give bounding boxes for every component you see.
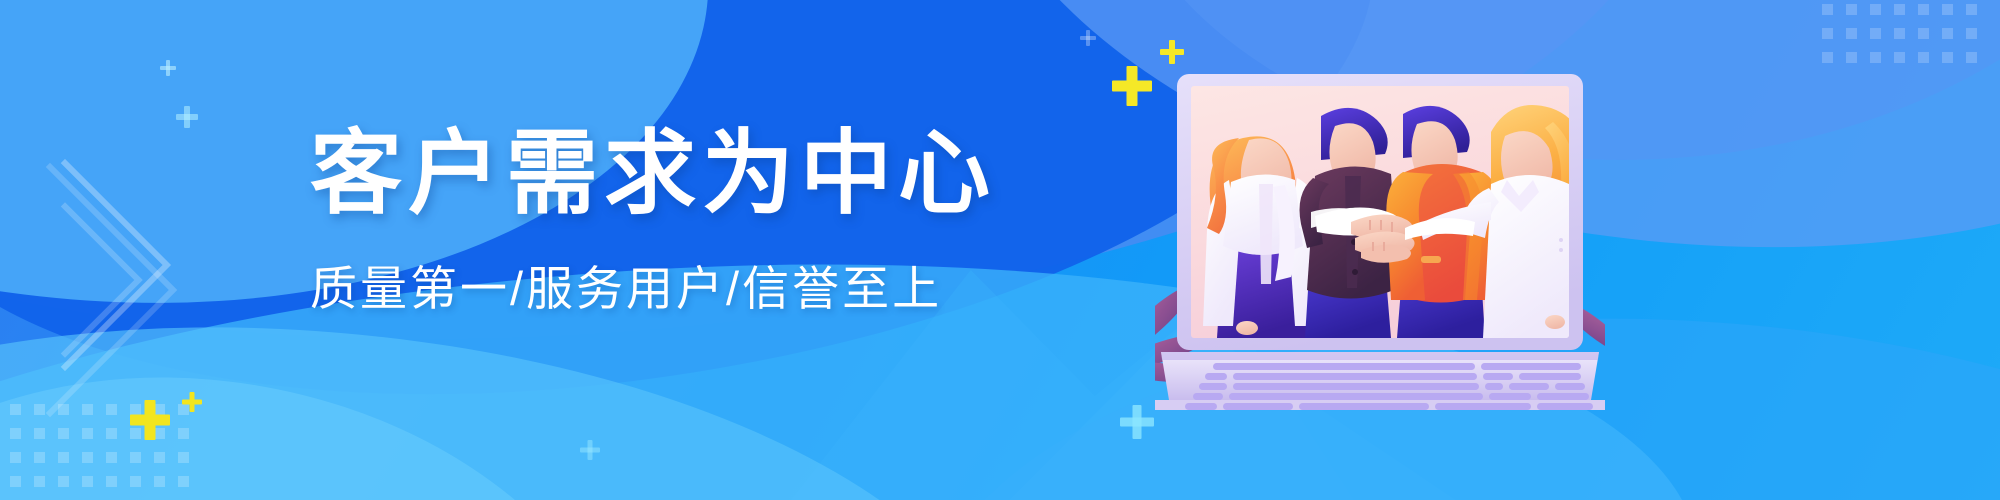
grid-dot [58, 476, 69, 487]
plus-icon-cyan-left-small [160, 60, 176, 76]
grid-dot [1966, 52, 1977, 63]
grid-dot [130, 476, 141, 487]
grid-dot [10, 476, 21, 487]
wave-shape-bottom-2 [0, 305, 1042, 500]
banner-subtitle: 质量第一/服务用户/信誉至上 [310, 250, 996, 319]
grid-dot [1870, 28, 1881, 39]
banner-text-block: 客户需求为中心 质量第一/服务用户/信誉至上 [310, 126, 996, 319]
banner-headline: 客户需求为中心 [310, 126, 996, 224]
grid-dot [10, 428, 21, 439]
grid-dot [82, 476, 93, 487]
grid-dot [58, 428, 69, 439]
grid-dot [1870, 4, 1881, 15]
laptop-svg [1155, 60, 1605, 430]
grid-dot [1846, 28, 1857, 39]
chevron-arrow-icon-mid [0, 159, 171, 371]
wave-shape-bottom-3 [0, 342, 679, 500]
grid-dot [10, 404, 21, 415]
grid-dot [154, 428, 165, 439]
grid-dot [82, 404, 93, 415]
grid-dot [58, 452, 69, 463]
grid-dot [106, 404, 117, 415]
plus-icon-yellow-bottomleft-small [182, 392, 202, 412]
grid-dot [10, 452, 21, 463]
grid-dot [1942, 28, 1953, 39]
grid-dot [178, 428, 189, 439]
promotional-banner: 客户需求为中心 质量第一/服务用户/信誉至上 [0, 0, 2000, 500]
chevron-arrow-icon-inner [0, 202, 143, 358]
plus-icon-yellow-bottomleft [130, 400, 170, 440]
grid-dot [1846, 4, 1857, 15]
grid-dot [106, 476, 117, 487]
grid-dot [34, 404, 45, 415]
laptop-hinge [1161, 352, 1599, 360]
grid-dot [1966, 28, 1977, 39]
plus-icon-cyan-right [1120, 405, 1154, 439]
laptop-teamwork-illustration [1155, 60, 1605, 430]
grid-dot [130, 404, 141, 415]
grid-dot [1894, 4, 1905, 15]
grid-dot [106, 428, 117, 439]
dot-grid-bottom-left [10, 404, 210, 494]
grid-dot [130, 452, 141, 463]
grid-dot [34, 476, 45, 487]
chevron-arrow-icon-outer [0, 163, 177, 418]
plus-icon-cyan-left [176, 106, 198, 128]
grid-dot [154, 476, 165, 487]
grid-dot [154, 452, 165, 463]
grid-dot [106, 452, 117, 463]
grid-dot [82, 428, 93, 439]
grid-dot [178, 476, 189, 487]
plus-icon-white-top [1080, 30, 1096, 46]
dot-grid-top-right [1822, 4, 1992, 74]
grid-dot [1870, 52, 1881, 63]
grid-dot [1966, 4, 1977, 15]
grid-dot [1918, 28, 1929, 39]
grid-dot [34, 452, 45, 463]
grid-dot [178, 452, 189, 463]
grid-dot [1918, 52, 1929, 63]
grid-dot [58, 404, 69, 415]
grid-dot [1918, 4, 1929, 15]
grid-dot [1894, 52, 1905, 63]
plus-icon-yellow-large [1112, 66, 1152, 106]
grid-dot [34, 428, 45, 439]
grid-dot [82, 452, 93, 463]
grid-dot [1846, 52, 1857, 63]
grid-dot [178, 404, 189, 415]
grid-dot [1894, 28, 1905, 39]
grid-dot [1822, 52, 1833, 63]
grid-dot [1942, 52, 1953, 63]
grid-dot [1942, 4, 1953, 15]
grid-dot [130, 428, 141, 439]
grid-dot [1822, 28, 1833, 39]
grid-dot [154, 404, 165, 415]
plus-icon-cyan-bottom [580, 440, 600, 460]
grid-dot [1822, 4, 1833, 15]
